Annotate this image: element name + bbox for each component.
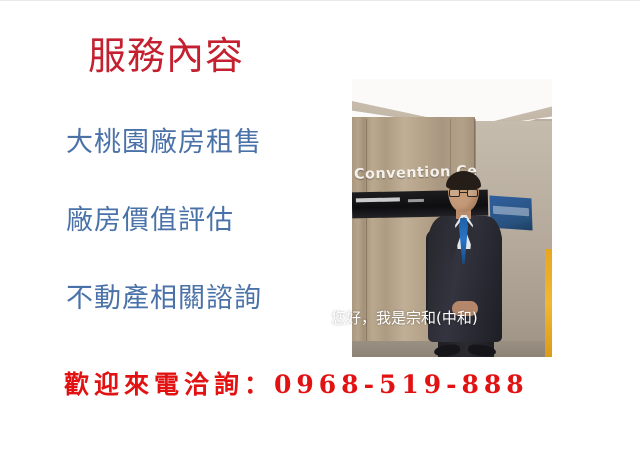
glasses-icon — [449, 189, 478, 197]
photo-person-glasses-bridge — [460, 192, 467, 193]
service-list: 大桃園廠房租售 廠房價值評估 不動產相關諮詢 — [66, 129, 326, 312]
photo-band-highlight — [408, 199, 424, 202]
photo-caption: 您好，我是宗和(中和) — [331, 311, 478, 326]
photo-band-highlight — [356, 197, 400, 202]
photo-accent-strip — [545, 249, 552, 357]
service-item-2: 廠房價值評估 — [66, 207, 326, 234]
service-item-1: 大桃園廠房租售 — [66, 129, 326, 156]
call-to-action-phone: 歡迎來電洽詢：0968-519-888 — [64, 372, 529, 397]
service-item-3: 不動產相關諮詢 — [66, 285, 326, 312]
slide-canvas: 服務內容 大桃園廠房租售 廠房價值評估 不動產相關諮詢 歡迎來電洽詢：0968-… — [0, 0, 640, 451]
page-title: 服務內容 — [88, 37, 244, 75]
photo-person-lens-left — [449, 189, 460, 197]
photo-person-lens-right — [467, 189, 478, 197]
